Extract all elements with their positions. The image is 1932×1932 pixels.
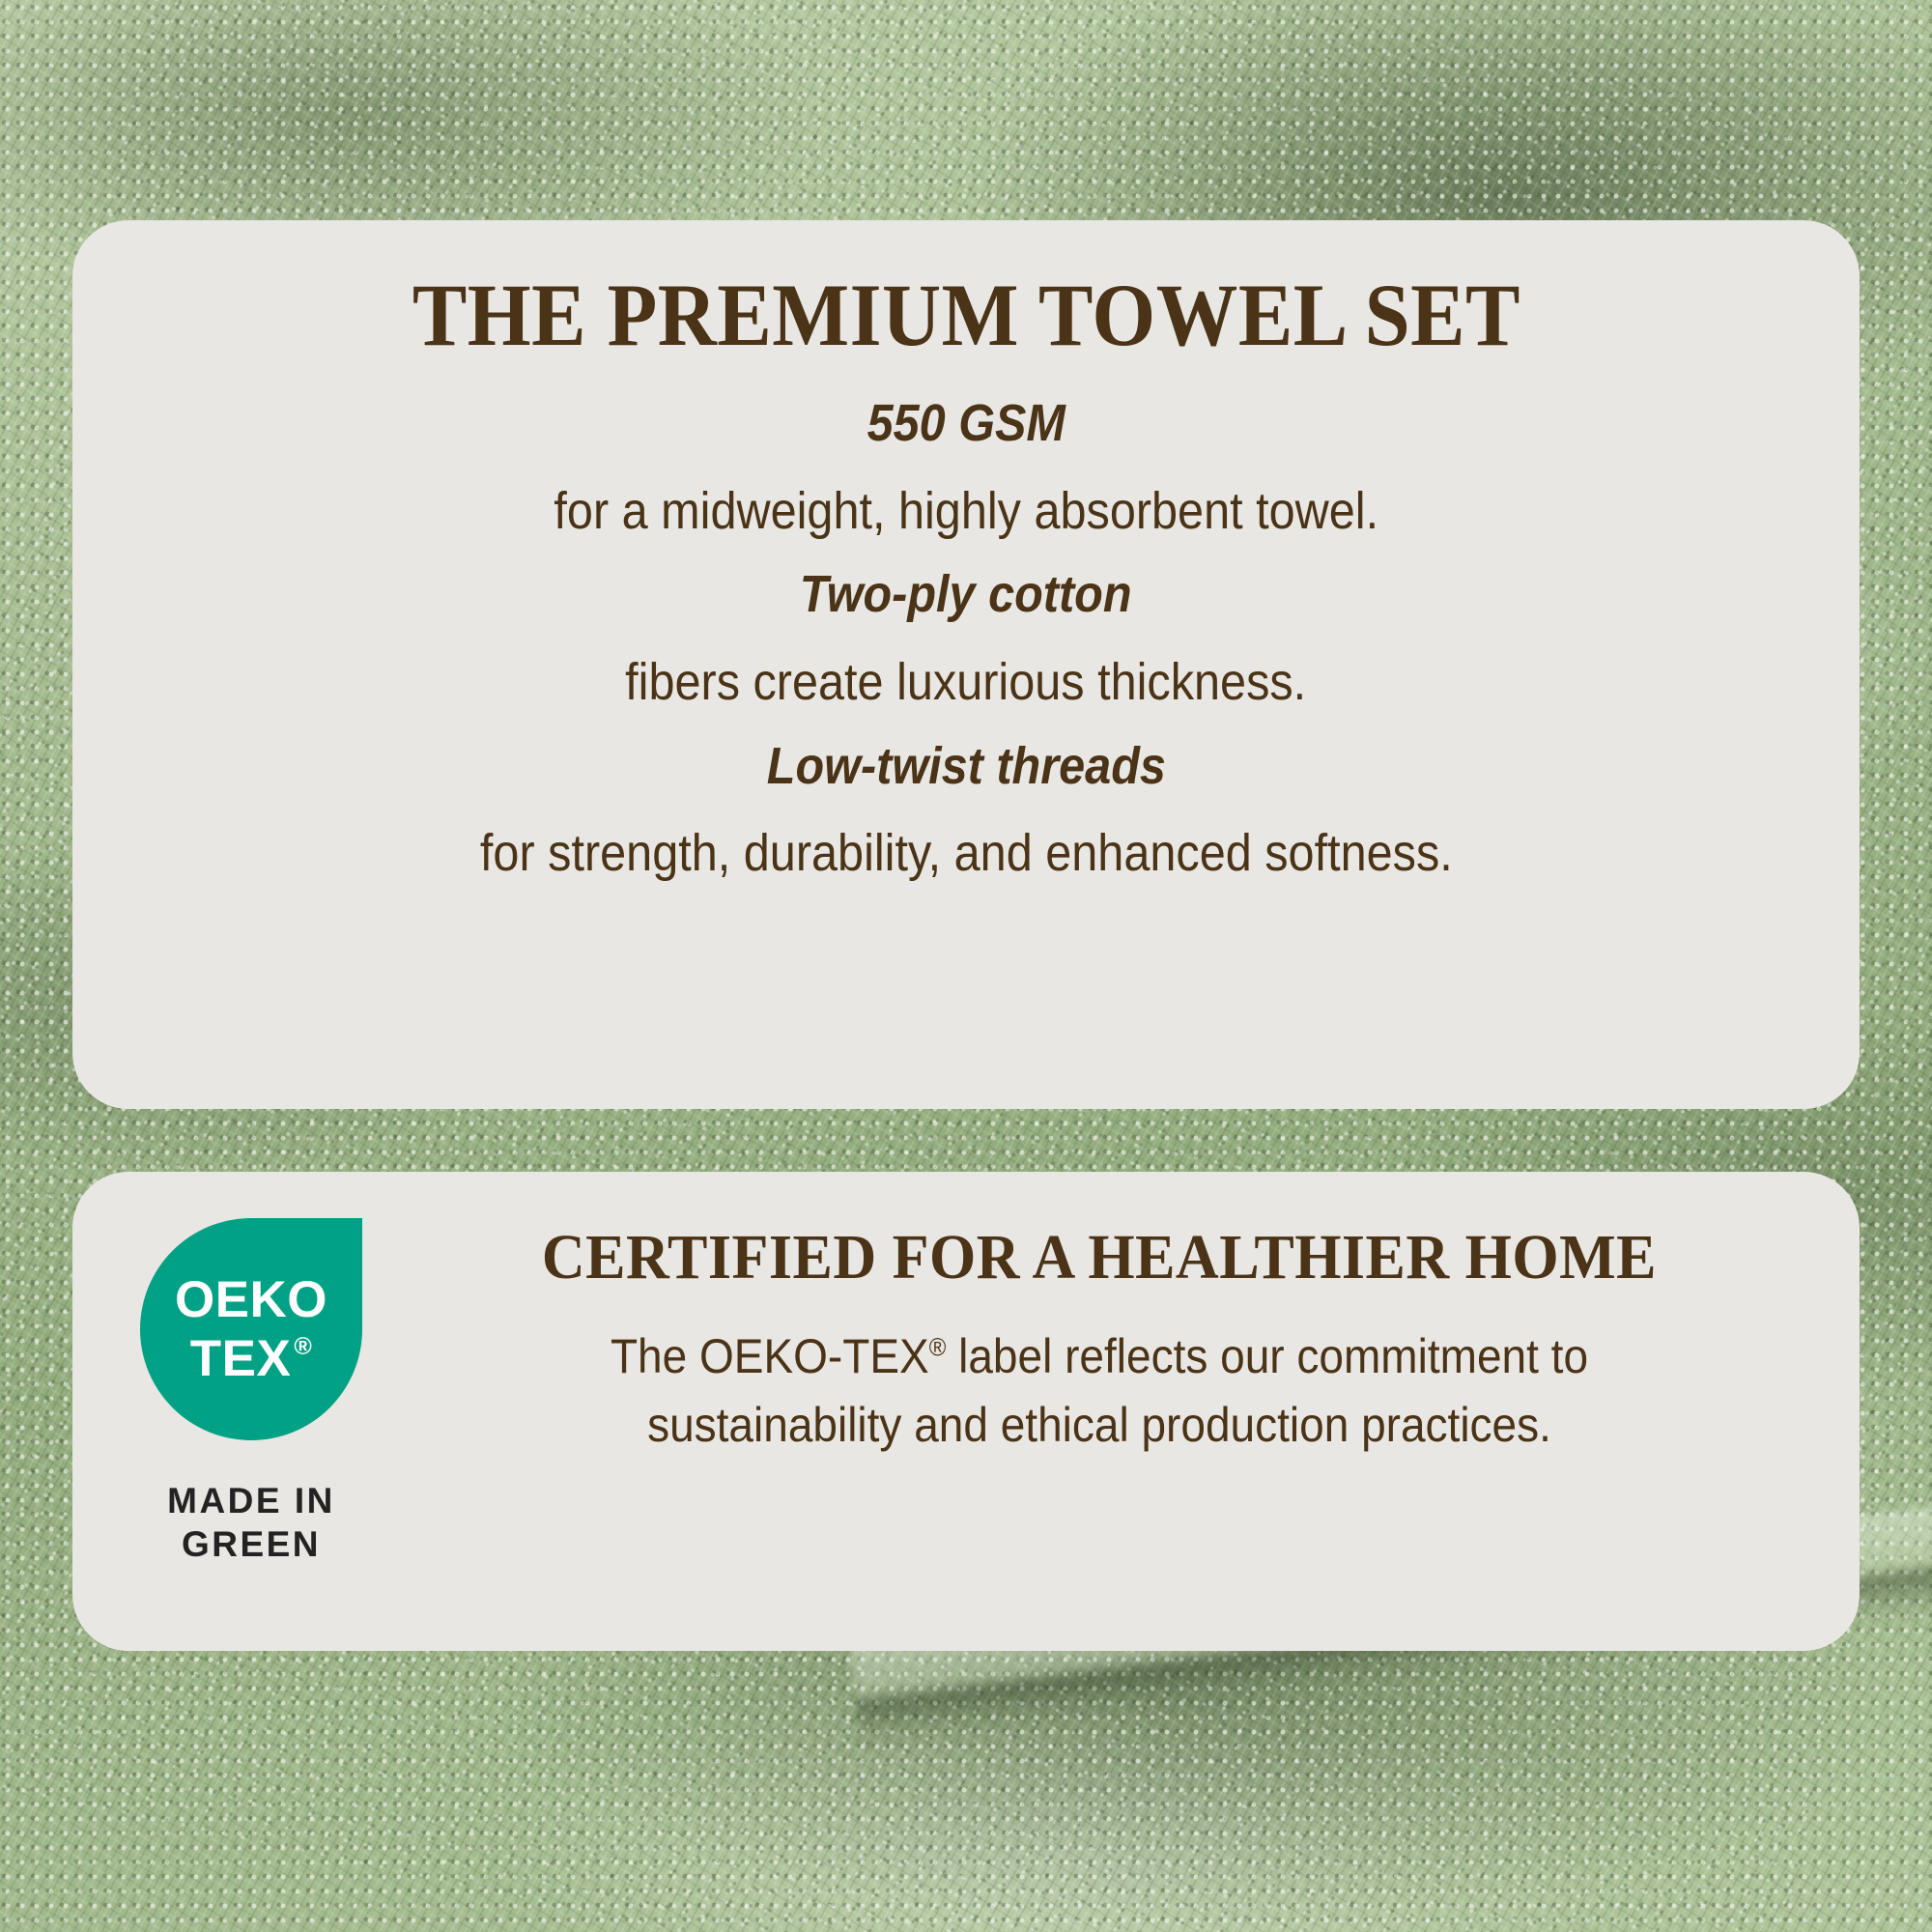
- page-title: THE PREMIUM TOWEL SET: [412, 270, 1520, 359]
- certification-body-text: The OEKO-TEX® label reflects our commitm…: [535, 1322, 1663, 1460]
- oeko-tex-logo-tex-text: TEX: [190, 1333, 292, 1384]
- oeko-tex-logo-line-two: TEX ®: [190, 1333, 313, 1384]
- product-specs-card: THE PREMIUM TOWEL SET 550 GSM for a midw…: [72, 220, 1860, 1109]
- certification-title: CERTIFIED FOR A HEALTHIER HOME: [542, 1226, 1657, 1290]
- oeko-tex-droplet-icon: OEKO TEX ®: [140, 1218, 362, 1440]
- spec-item-two-ply-cotton: Two-ply cotton fibers create luxurious t…: [587, 567, 1344, 709]
- made-in-green-caption: MADE IN GREEN: [130, 1479, 372, 1566]
- spec-item-gsm: 550 GSM for a midweight, highly absorben…: [508, 396, 1425, 538]
- certification-text-column: CERTIFIED FOR A HEALTHIER HOME The OEKO-…: [372, 1216, 1802, 1460]
- spec-item-low-twist-threads: Low-twist threads for strength, durabili…: [426, 739, 1507, 881]
- spec-description-two-ply-cotton: fibers create luxurious thickness.: [625, 655, 1306, 710]
- spec-term-gsm: 550 GSM: [554, 396, 1378, 451]
- oeko-tex-logo-line-one: OEKO: [175, 1274, 327, 1325]
- certification-card: OEKO TEX ® MADE IN GREEN CERTIFIED FOR A…: [72, 1172, 1860, 1651]
- infographic-canvas: THE PREMIUM TOWEL SET 550 GSM for a midw…: [0, 0, 1932, 1932]
- spec-term-two-ply-cotton: Two-ply cotton: [625, 567, 1306, 622]
- certification-body-part-one: The OEKO-TEX: [611, 1329, 929, 1383]
- spec-term-low-twist-threads: Low-twist threads: [480, 739, 1453, 794]
- spec-description-low-twist-threads: for strength, durability, and enhanced s…: [480, 826, 1453, 881]
- oeko-tex-badge: OEKO TEX ® MADE IN GREEN: [130, 1216, 372, 1566]
- registered-trademark-icon: ®: [294, 1335, 312, 1359]
- spec-description-gsm: for a midweight, highly absorbent towel.: [554, 484, 1378, 539]
- certification-registered-trademark-icon: ®: [929, 1332, 947, 1361]
